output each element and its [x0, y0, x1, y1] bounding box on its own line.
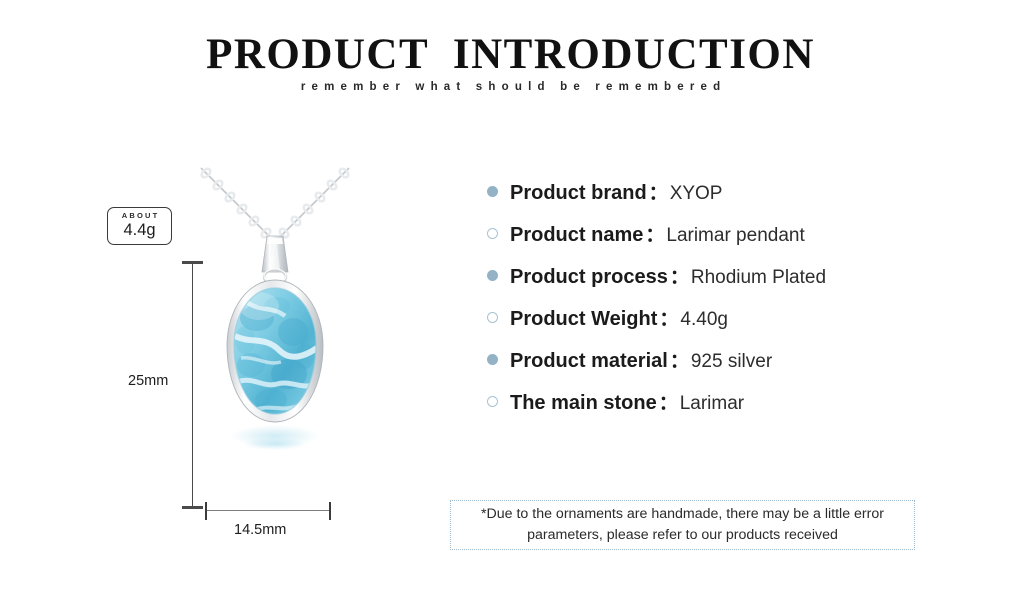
spec-row: Product process：Rhodium Plated [487, 262, 937, 304]
spec-row: The main stone：Larimar [487, 388, 937, 430]
weight-badge: ABOUT 4.4g [107, 207, 172, 245]
spec-bullet-hollow-icon [487, 312, 498, 323]
spec-bullet-hollow-icon [487, 396, 498, 407]
height-dimension-cap-bottom [182, 506, 203, 509]
spec-label: Product name [510, 224, 643, 247]
width-dimension-label: 14.5mm [234, 522, 286, 538]
page-header: PRODUCT INTRODUCTION remember what shoul… [0, 32, 1021, 93]
chain-right [279, 168, 349, 238]
disclaimer-text: *Due to the ornaments are handmade, ther… [451, 504, 914, 545]
pendant-bail [262, 236, 288, 284]
spec-row: Product Weight：4.40g [487, 304, 937, 346]
spec-bullet-filled-icon [487, 186, 498, 197]
spec-value: 925 silver [691, 351, 772, 373]
page-title: PRODUCT INTRODUCTION [0, 32, 1021, 77]
spec-row: Product brand：XYOP [487, 178, 937, 220]
disclaimer-box: *Due to the ornaments are handmade, ther… [450, 500, 915, 550]
width-dimension-cap-left [205, 502, 207, 520]
spec-value: Larimar pendant [666, 225, 804, 247]
spec-label: Product material [510, 350, 668, 373]
spec-value: Rhodium Plated [691, 267, 826, 289]
product-spec-list: Product brand：XYOPProduct name：Larimar p… [487, 178, 937, 430]
spec-colon: ： [647, 178, 670, 205]
spec-colon: ： [668, 346, 691, 373]
height-dimension-line [192, 262, 193, 508]
spec-bullet-hollow-icon [487, 228, 498, 239]
height-dimension-label: 25mm [128, 373, 168, 389]
width-dimension-cap-right [329, 502, 331, 520]
page-subtitle: remember what should be remembered [0, 81, 1021, 93]
larimar-stone [234, 288, 317, 414]
spec-colon: ： [643, 220, 666, 247]
height-dimension-cap-top [182, 261, 203, 264]
spec-label: Product brand [510, 182, 647, 205]
spec-colon: ： [668, 262, 691, 289]
spec-label: Product Weight [510, 308, 657, 331]
weight-badge-caption: ABOUT [108, 212, 171, 220]
larimar-pendant-necklace-image [185, 160, 365, 530]
spec-value: 4.40g [680, 309, 728, 331]
spec-bullet-filled-icon [487, 354, 498, 365]
chain-left [201, 168, 271, 238]
spec-label: Product process [510, 266, 668, 289]
spec-row: Product name：Larimar pendant [487, 220, 937, 262]
product-image-panel: ABOUT 4.4g [0, 150, 450, 570]
pendant-reflection-secondary [243, 438, 307, 450]
spec-colon: ： [657, 304, 680, 331]
spec-colon: ： [657, 388, 680, 415]
weight-badge-value: 4.4g [108, 221, 171, 239]
spec-value: XYOP [670, 183, 723, 205]
spec-value: Larimar [680, 393, 744, 415]
spec-bullet-filled-icon [487, 270, 498, 281]
spec-row: Product material：925 silver [487, 346, 937, 388]
spec-label: The main stone [510, 392, 657, 415]
width-dimension-line [206, 510, 331, 511]
